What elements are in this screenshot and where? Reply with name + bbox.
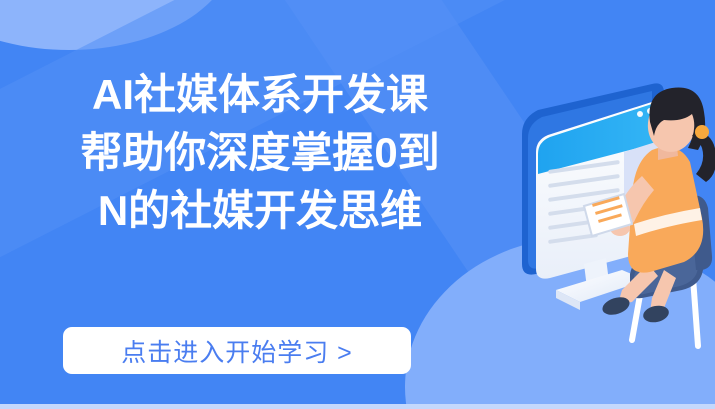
- illustration-person-at-computer: [492, 78, 715, 368]
- bottom-strip: [0, 404, 715, 409]
- headline-line-3: N的社媒开发思维: [0, 182, 520, 240]
- start-learning-button-label: 点击进入开始学习 >: [121, 333, 353, 369]
- promo-banner: AI社媒体系开发课 帮助你深度掌握0到 N的社媒开发思维: [0, 0, 715, 409]
- start-learning-button[interactable]: 点击进入开始学习 >: [63, 327, 411, 374]
- headline-block: AI社媒体系开发课 帮助你深度掌握0到 N的社媒开发思维: [0, 66, 520, 240]
- headline-line-1: AI社媒体系开发课: [0, 66, 520, 124]
- headline-line-2: 帮助你深度掌握0到: [0, 124, 520, 182]
